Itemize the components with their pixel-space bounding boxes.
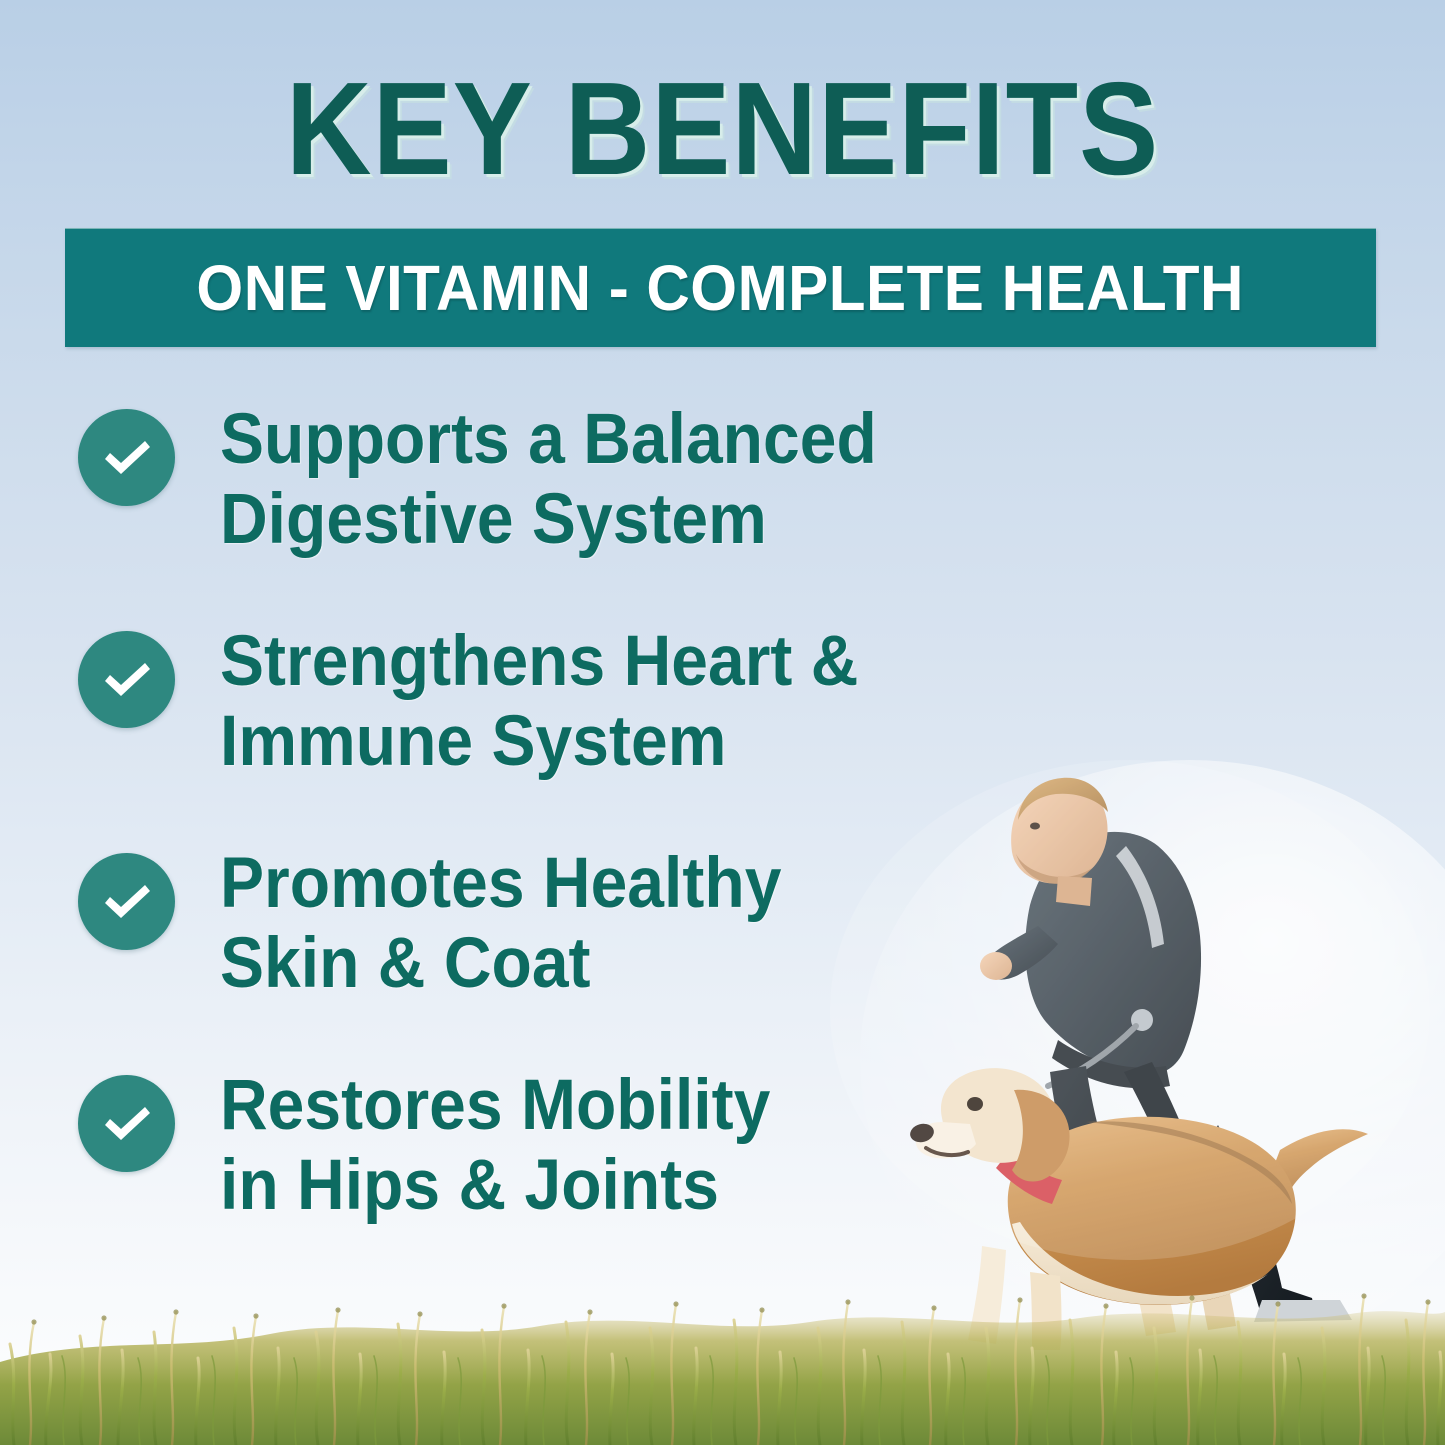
benefit-label: Strengthens Heart & Immune System xyxy=(220,622,858,781)
leash-cord xyxy=(1048,1026,1136,1086)
runner-head xyxy=(1011,781,1107,884)
runner-eye xyxy=(1030,823,1040,830)
runner-jacket xyxy=(1025,832,1201,1075)
grass-foreground xyxy=(0,1270,1445,1445)
benefit-label: Supports a Balanced Digestive System xyxy=(220,400,877,559)
runner-waist-belt xyxy=(1052,1040,1170,1088)
jacket-stripe xyxy=(1116,846,1164,948)
dog-collar xyxy=(996,1150,1062,1204)
check-icon xyxy=(78,631,175,728)
male-runner xyxy=(980,778,1352,1322)
runner-beard xyxy=(1016,854,1092,884)
dog-tail xyxy=(1270,1129,1368,1194)
dog-saddle xyxy=(1086,1121,1292,1204)
check-icon xyxy=(78,1075,175,1172)
benefit-item-heart-immune: Strengthens Heart & Immune System xyxy=(0,622,1000,781)
runner-neck xyxy=(1056,876,1092,906)
benefit-label: Promotes Healthy Skin & Coat xyxy=(220,844,781,1003)
page-title: KEY BENEFITS xyxy=(72,63,1373,195)
runner-hair xyxy=(1018,778,1108,820)
leash-clip xyxy=(1131,1009,1153,1031)
key-benefits-infographic: KEY BENEFITS ONE VITAMIN - COMPLETE HEAL… xyxy=(0,0,1445,1445)
runner-mid-leg xyxy=(1124,1062,1212,1218)
benefit-item-mobility: Restores Mobility in Hips & Joints xyxy=(0,1066,1000,1225)
tagline-banner: ONE VITAMIN - COMPLETE HEALTH xyxy=(65,228,1376,347)
benefit-item-skin-coat: Promotes Healthy Skin & Coat xyxy=(0,844,1000,1003)
grass-mass xyxy=(0,1311,1445,1445)
runner-front-leg xyxy=(1050,1066,1170,1272)
dog-ear xyxy=(1012,1090,1070,1182)
benefit-label: Restores Mobility in Hips & Joints xyxy=(220,1066,770,1225)
check-icon xyxy=(78,409,175,506)
check-icon xyxy=(78,853,175,950)
benefit-item-digestive: Supports a Balanced Digestive System xyxy=(0,400,1000,559)
tagline-text: ONE VITAMIN - COMPLETE HEALTH xyxy=(197,251,1244,325)
